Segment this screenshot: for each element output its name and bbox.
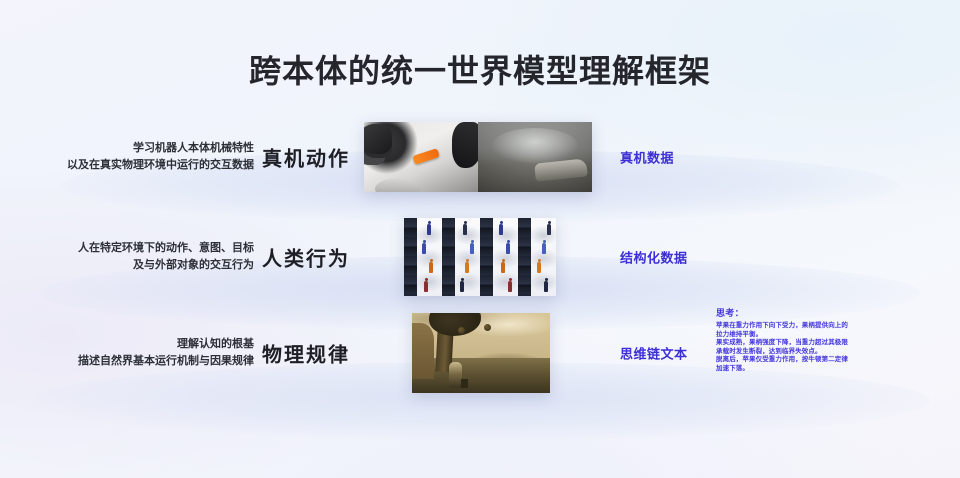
- robot-wrist: [375, 178, 421, 192]
- thinking-note-line: 果实成熟，果柄强度下降，当重力超过其极限: [716, 339, 896, 348]
- newton-apple-painting: [412, 313, 550, 393]
- painting-seated-figure: [449, 362, 462, 388]
- motion-strip-dark: [480, 218, 493, 296]
- framework-row-real-machine-action: 学习机器人本体机械特性 以及在真实物理环境中运行的交互数据 真机动作 真机数据: [0, 112, 960, 202]
- thinking-note-title: 思考：: [716, 306, 896, 319]
- row-description-line: 学习机器人本体机械特性: [4, 140, 254, 157]
- human-pose-figure: [424, 281, 428, 292]
- motion-strip-dark: [442, 218, 455, 296]
- human-pose-figure: [470, 243, 474, 254]
- row-description-line: 及与外部对象的交互行为: [4, 257, 254, 274]
- row-description: 人在特定环境下的动作、意图、目标 及与外部对象的交互行为: [4, 240, 254, 274]
- slide-canvas: 跨本体的统一世界模型理解框架 学习机器人本体机械特性 以及在真实物理环境中运行的…: [0, 0, 960, 478]
- motion-strip-dark: [404, 218, 417, 296]
- row-data-tag: 结构化数据: [620, 248, 688, 267]
- row-category-label: 真机动作: [262, 143, 350, 172]
- row-category-label: 人类行为: [262, 243, 350, 272]
- row-description-line: 理解认知的根基: [4, 336, 254, 353]
- motion-strip-light: [455, 218, 480, 296]
- orange-object: [412, 148, 440, 165]
- fisheye-room-panel: [478, 122, 592, 192]
- human-pose-figure: [499, 224, 503, 235]
- falling-apple-icon: [484, 324, 491, 331]
- thinking-note: 思考： 苹果在重力作用下向下受力，果柄提供向上的 拉力维持平衡。 果实成熟，果柄…: [716, 306, 896, 374]
- human-pose-figure: [506, 243, 510, 254]
- motion-strip-light: [531, 218, 556, 296]
- row-data-tag: 真机数据: [620, 148, 674, 167]
- human-pose-figure: [544, 281, 548, 292]
- human-pose-figure: [429, 262, 433, 273]
- row-data-tag: 思维链文本: [620, 344, 688, 363]
- framework-row-human-behavior: 人在特定环境下的动作、意图、目标 及与外部对象的交互行为 人类行为 结构化数据: [0, 212, 960, 302]
- robot-hands-panel: [364, 122, 478, 192]
- row-description: 学习机器人本体机械特性 以及在真实物理环境中运行的交互数据: [4, 140, 254, 174]
- motion-strip-dark: [518, 218, 531, 296]
- robot-manipulation-photo: [364, 122, 592, 192]
- thinking-note-line: 加速下落。: [716, 365, 896, 374]
- human-pose-figure: [427, 224, 431, 235]
- row-description-line: 以及在真实物理环境中运行的交互数据: [4, 157, 254, 174]
- human-pose-figure: [501, 262, 505, 273]
- human-pose-figure: [547, 224, 551, 235]
- thinking-note-body: 苹果在重力作用下向下受力，果柄提供向上的 拉力维持平衡。 果实成熟，果柄强度下降…: [716, 322, 896, 374]
- human-pose-figure: [465, 262, 469, 273]
- human-pose-figure: [460, 281, 464, 292]
- human-motion-grid-photo: [404, 218, 556, 296]
- painting-arch: [412, 323, 434, 379]
- row-category-label: 物理规律: [262, 339, 350, 368]
- human-pose-figure: [422, 243, 426, 254]
- human-pose-figure: [537, 262, 541, 273]
- page-title: 跨本体的统一世界模型理解框架: [0, 46, 960, 92]
- row-description: 理解认知的根基 描述自然界基本运行机制与因果规律: [4, 336, 254, 370]
- thinking-note-line: 苹果在重力作用下向下受力，果柄提供向上的: [716, 322, 896, 331]
- human-pose-figure: [542, 243, 546, 254]
- human-pose-figure: [463, 224, 467, 235]
- motion-strip-light: [417, 218, 442, 296]
- row-description-line: 人在特定环境下的动作、意图、目标: [4, 240, 254, 257]
- falling-apple-icon: [458, 327, 465, 334]
- thinking-note-line: 脱离后，苹果仅受重力作用，按牛顿第二定律: [716, 356, 896, 365]
- row-description-line: 描述自然界基本运行机制与因果规律: [4, 353, 254, 370]
- thinking-note-line: 拉力维持平衡。: [716, 331, 896, 340]
- human-pose-figure: [508, 281, 512, 292]
- motion-strip-light: [493, 218, 518, 296]
